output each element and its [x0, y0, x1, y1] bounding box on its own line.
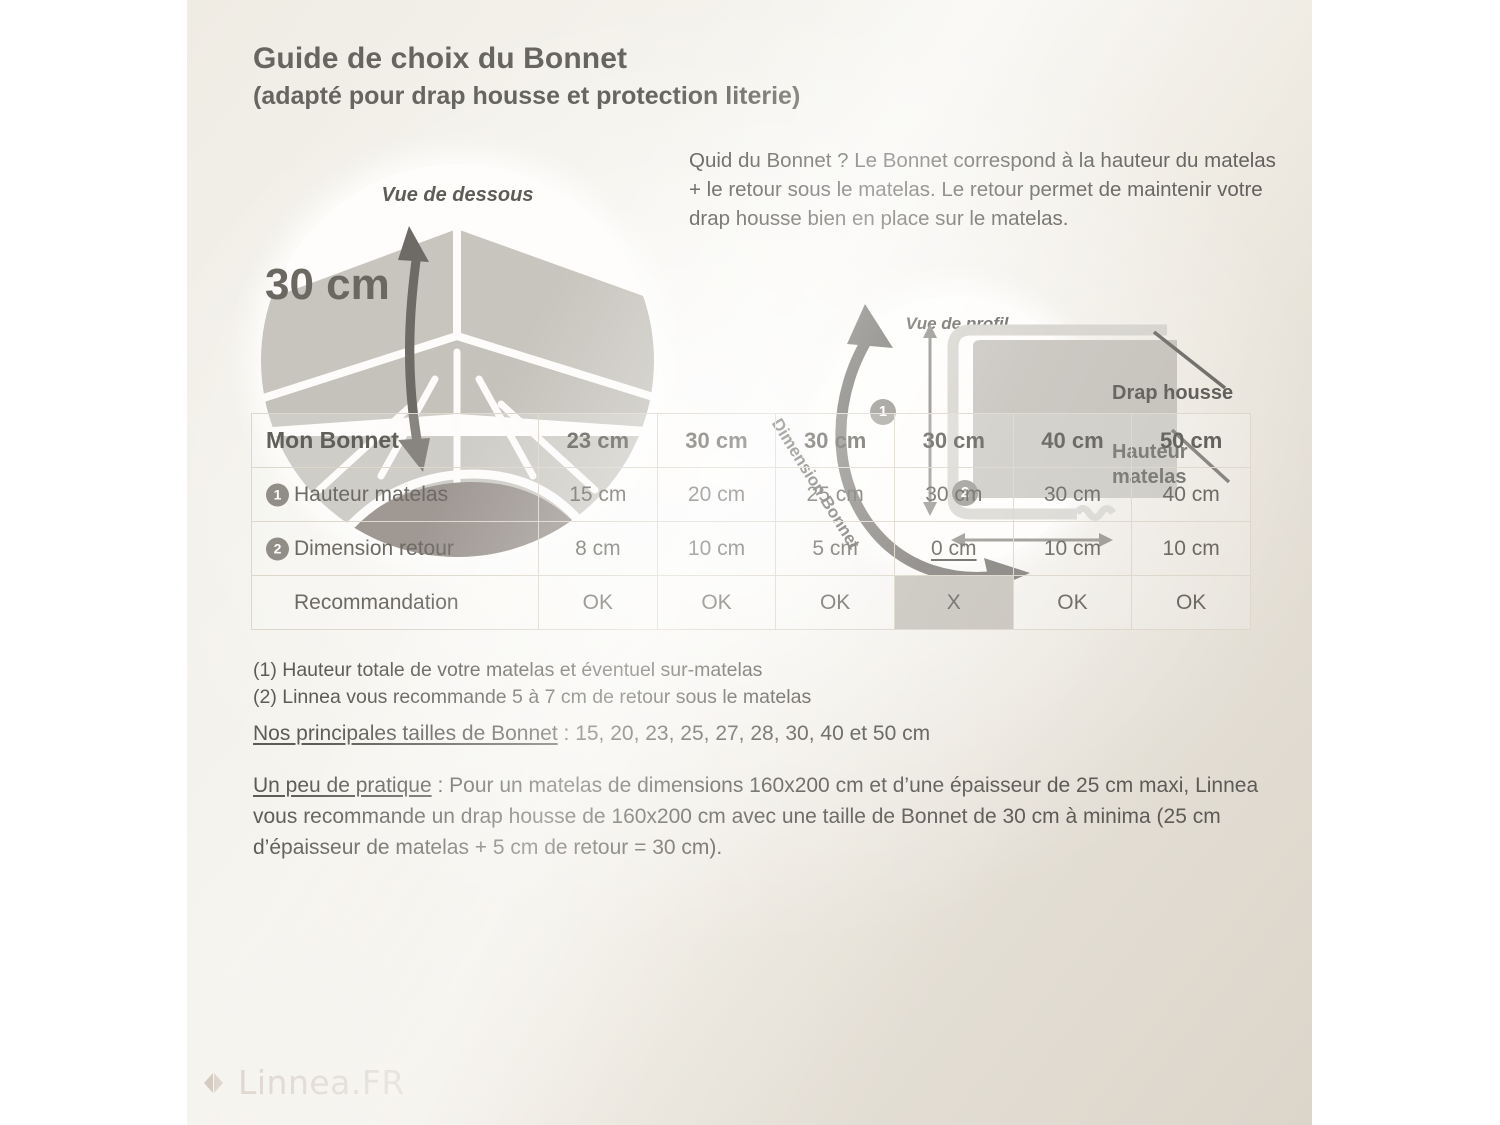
- table-rowlabel: Hauteur matelas: [266, 483, 448, 507]
- logo-text: Linnea.FR: [238, 1063, 405, 1102]
- table-header-cell-5: 40 cm: [1013, 414, 1132, 468]
- sizes-line: Nos principales tailles de Bonnet : 15, …: [253, 722, 930, 746]
- diamond-icon: [201, 1070, 227, 1096]
- table-cell: 10 cm: [1132, 522, 1251, 576]
- infographic-canvas: Guide de choix du Bonnet (adapté pour dr…: [0, 0, 1500, 1125]
- table-cell: 5 cm: [776, 522, 895, 576]
- table-header-cell-1: 23 cm: [539, 414, 658, 468]
- intro-paragraph: Quid du Bonnet ? Le Bonnet correspond à …: [689, 146, 1289, 233]
- practice-separator: :: [432, 774, 450, 797]
- table-cell: 10 cm: [1013, 522, 1132, 576]
- table-cell: 40 cm: [1132, 468, 1251, 522]
- callout-drap-housse: Drap housse: [1112, 381, 1233, 406]
- table-cell: 30 cm: [894, 468, 1013, 522]
- table-cell: 10 cm: [657, 522, 776, 576]
- table-cell: OK: [657, 576, 776, 630]
- table-rowhead-hauteur-matelas: 1 Hauteur matelas: [252, 468, 539, 522]
- table-cell: 20 cm: [657, 468, 776, 522]
- content-panel: Guide de choix du Bonnet (adapté pour dr…: [187, 0, 1312, 1125]
- page-title: Guide de choix du Bonnet (adapté pour dr…: [253, 42, 800, 111]
- badge-1-table: 1: [266, 483, 289, 506]
- table-cell-highlighted: X: [894, 576, 1013, 630]
- bottom-view-measure: 30 cm: [265, 260, 390, 310]
- table-rowhead-recommandation: Recommandation: [252, 576, 539, 630]
- footnote-2: (2) Linnea vous recommande 5 à 7 cm de r…: [253, 684, 811, 711]
- sizes-separator: :: [558, 722, 576, 745]
- table-cell: 15 cm: [539, 468, 658, 522]
- title-main: Guide de choix du Bonnet: [253, 42, 800, 77]
- table-header-cell-3: 30 cm: [776, 414, 895, 468]
- table-row: Recommandation OK OK OK X OK OK: [252, 576, 1251, 630]
- table-cell: OK: [1013, 576, 1132, 630]
- table-header-row: Mon Bonnet 23 cm 30 cm 30 cm 30 cm 40 cm…: [252, 414, 1251, 468]
- table-cell: OK: [776, 576, 895, 630]
- sizes-label: Nos principales tailles de Bonnet: [253, 722, 558, 745]
- bottom-view-label: Vue de dessous: [261, 184, 654, 207]
- logo[interactable]: Linnea.FR: [201, 1063, 405, 1102]
- table-cell: 25 cm: [776, 468, 895, 522]
- table-header-cell-6: 50 cm: [1132, 414, 1251, 468]
- table-cell: 30 cm: [1013, 468, 1132, 522]
- table-row: 1 Hauteur matelas 15 cm 20 cm 25 cm 30 c…: [252, 468, 1251, 522]
- sizes-values: 15, 20, 23, 25, 27, 28, 30, 40 et 50 cm: [575, 722, 930, 745]
- bonnet-table: Mon Bonnet 23 cm 30 cm 30 cm 30 cm 40 cm…: [251, 413, 1251, 630]
- table-cell-underlined: 0 cm: [894, 522, 1013, 576]
- badge-2-table: 2: [266, 537, 289, 560]
- table-rowlabel: Recommandation: [266, 591, 459, 615]
- table-cell: OK: [1132, 576, 1251, 630]
- table-header-cell-4: 30 cm: [894, 414, 1013, 468]
- footnotes: (1) Hauteur totale de votre matelas et é…: [253, 657, 811, 711]
- table-rowhead-dimension-retour: 2 Dimension retour: [252, 522, 539, 576]
- table-header-cell-0: Mon Bonnet: [252, 414, 539, 468]
- table-rowlabel: Dimension retour: [266, 537, 454, 561]
- table-cell: OK: [539, 576, 658, 630]
- practice-block: Un peu de pratique : Pour un matelas de …: [253, 770, 1263, 863]
- practice-label: Un peu de pratique: [253, 774, 432, 797]
- table-row: 2 Dimension retour 8 cm 10 cm 5 cm 0 cm …: [252, 522, 1251, 576]
- footnote-1: (1) Hauteur totale de votre matelas et é…: [253, 657, 811, 684]
- table-cell: 8 cm: [539, 522, 658, 576]
- title-subtitle: (adapté pour drap housse et protection l…: [253, 81, 800, 111]
- table-header-cell-2: 30 cm: [657, 414, 776, 468]
